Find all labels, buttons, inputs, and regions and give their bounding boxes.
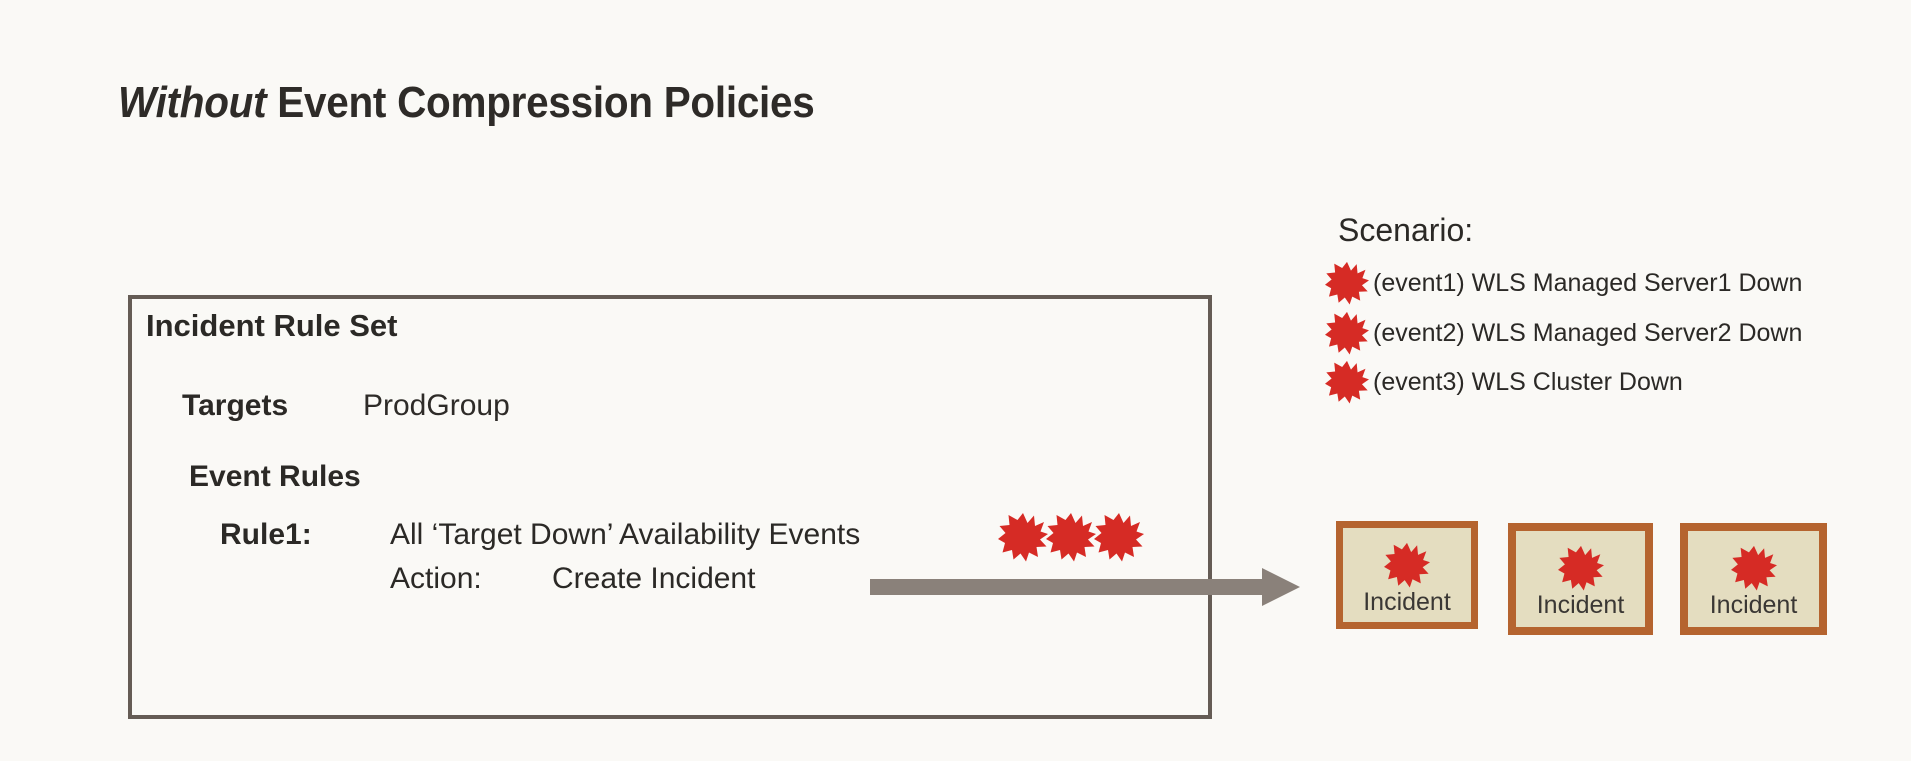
rule1-action-label: Action: [390, 562, 482, 596]
event-burst-icon [998, 512, 1048, 562]
incident-card: Incident [1680, 523, 1827, 635]
scenario-event-label: (event2) WLS Managed Server2 Down [1373, 319, 1802, 348]
event-burst-icon [1731, 545, 1777, 591]
incident-rule-set-box [128, 295, 1212, 719]
rule1-action-value: Create Incident [552, 562, 755, 596]
scenario-event-item: (event1) WLS Managed Server1 Down [1325, 262, 1802, 304]
incident-card-label: Incident [1363, 590, 1451, 615]
incident-rule-set-heading: Incident Rule Set [146, 308, 397, 344]
incident-card-label: Incident [1710, 593, 1798, 618]
scenario-event-label: (event3) WLS Cluster Down [1373, 368, 1683, 397]
rule1-event-icons [998, 512, 1146, 562]
page-title: Without Event Compression Policies [118, 78, 815, 128]
targets-label: Targets [182, 389, 288, 423]
event-burst-icon [1046, 512, 1096, 562]
event-rules-label: Event Rules [189, 460, 361, 494]
event-burst-icon [1094, 512, 1144, 562]
slide-canvas: Without Event Compression Policies Incid… [0, 0, 1911, 761]
event-burst-icon [1325, 261, 1369, 305]
page-title-emphasis: Without [118, 78, 266, 127]
incident-card-label: Incident [1537, 593, 1625, 618]
scenario-heading: Scenario: [1338, 212, 1473, 249]
event-burst-icon [1325, 360, 1369, 404]
scenario-event-item: (event3) WLS Cluster Down [1325, 361, 1683, 403]
right-arrow-icon [870, 566, 1300, 608]
scenario-event-label: (event1) WLS Managed Server1 Down [1373, 269, 1802, 298]
event-burst-icon [1384, 542, 1430, 588]
targets-value: ProdGroup [363, 389, 510, 423]
incident-card: Incident [1336, 521, 1478, 629]
page-title-rest: Event Compression Policies [266, 78, 814, 127]
incident-card: Incident [1508, 523, 1653, 635]
event-burst-icon [1325, 311, 1369, 355]
event-burst-icon [1558, 545, 1604, 591]
rule1-condition: All ‘Target Down’ Availability Events [390, 518, 860, 552]
rule1-name: Rule1: [220, 518, 312, 552]
scenario-event-item: (event2) WLS Managed Server2 Down [1325, 312, 1802, 354]
